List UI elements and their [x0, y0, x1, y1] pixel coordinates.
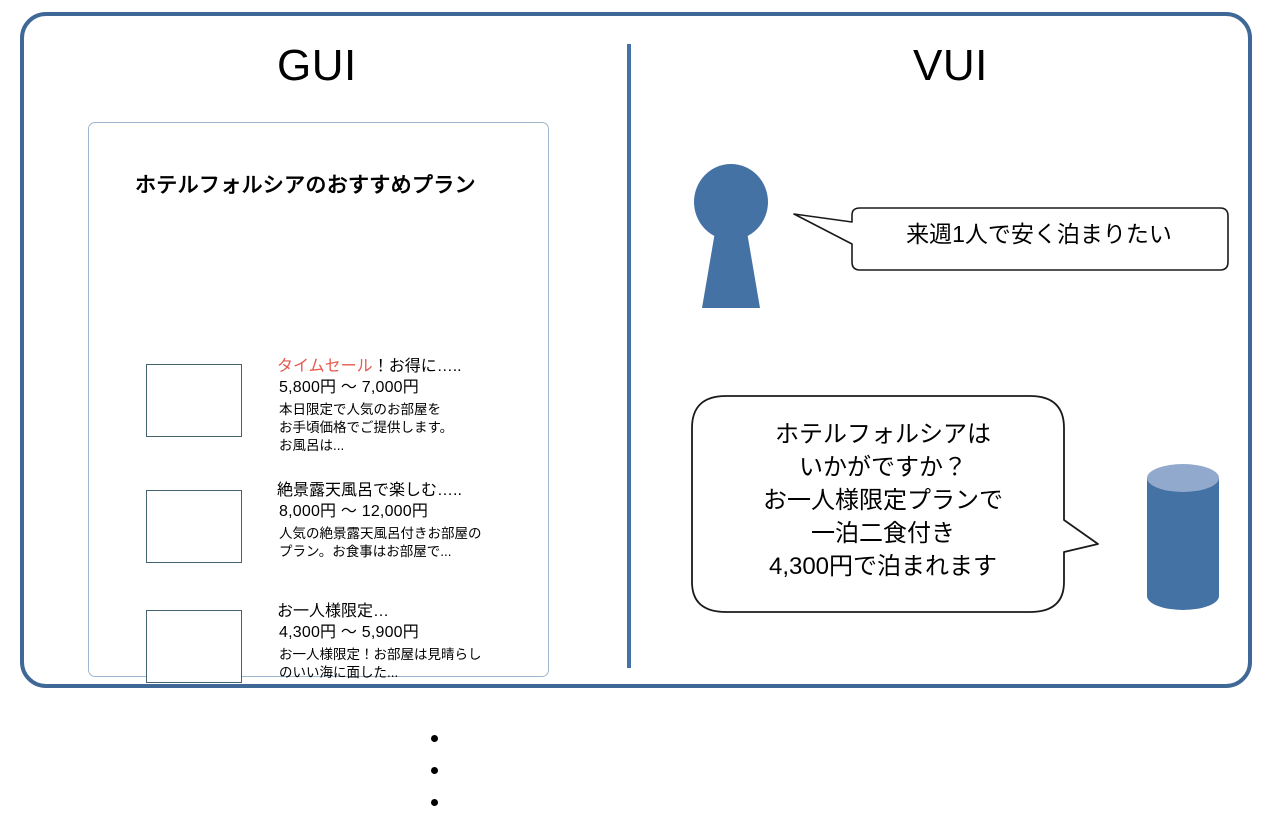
plan-title[interactable]: お一人様限定…	[277, 601, 537, 622]
ellipsis-dot	[431, 767, 438, 774]
plan-text-block: 絶景露天風呂で楽しむ….. 8,000円 〜 12,000円 人気の絶景露天風呂…	[277, 480, 537, 561]
column-divider	[627, 44, 631, 668]
plan-description-line: プラン。お食事はお部屋で...	[279, 543, 537, 561]
agent-utterance-text: ホテルフォルシアは いかがですか？ お一人様限定プランで 一泊二食付き 4,30…	[718, 418, 1048, 583]
plan-thumbnail-placeholder	[146, 610, 242, 683]
smart-speaker-cylinder-icon	[1145, 462, 1221, 612]
gui-card-title: ホテルフォルシアのおすすめプラン	[135, 169, 476, 199]
plan-thumbnail-placeholder	[146, 490, 242, 563]
agent-utterance-line: ホテルフォルシアは	[718, 418, 1048, 451]
gui-column-heading: GUI	[277, 44, 357, 88]
plan-description: お一人様限定！お部屋は見晴らし のいい海に面した...	[277, 644, 537, 682]
plan-title[interactable]: 絶景露天風呂で楽しむ…..	[277, 480, 537, 501]
plan-description: 人気の絶景露天風呂付きお部屋の プラン。お食事はお部屋で...	[277, 523, 537, 561]
plan-description-line: 人気の絶景露天風呂付きお部屋の	[279, 525, 537, 543]
agent-utterance-line: 一泊二食付き	[718, 517, 1048, 550]
vui-column-heading: VUI	[913, 44, 988, 88]
plan-list-ellipsis	[431, 735, 438, 831]
user-utterance-text: 来週1人で安く泊まりたい	[856, 220, 1222, 248]
plan-text-block: お一人様限定… 4,300円 〜 5,900円 お一人様限定！お部屋は見晴らし …	[277, 601, 537, 682]
plan-title-rest: お一人様限定…	[277, 603, 389, 620]
agent-utterance-line: お一人様限定プランで	[718, 484, 1048, 517]
plan-thumbnail-placeholder	[146, 364, 242, 437]
plan-description-line: 本日限定で人気のお部屋を	[279, 401, 537, 419]
agent-speech-bubble: ホテルフォルシアは いかがですか？ お一人様限定プランで 一泊二食付き 4,30…	[690, 392, 1100, 616]
plan-title-rest: ！お得に…..	[373, 358, 462, 375]
plan-description: 本日限定で人気のお部屋を お手頃価格でご提供します。 お風呂は...	[277, 399, 537, 455]
plan-sale-tag: タイムセール	[277, 358, 373, 375]
plan-title[interactable]: タイムセール！お得に…..	[277, 356, 537, 377]
person-silhouette-icon	[690, 162, 772, 310]
plan-description-line: のいい海に面した...	[279, 664, 537, 682]
plan-description-line: お一人様限定！お部屋は見晴らし	[279, 646, 537, 664]
plan-price-range: 5,800円 〜 7,000円	[277, 377, 537, 399]
plan-price-range: 8,000円 〜 12,000円	[277, 501, 537, 523]
agent-utterance-line: 4,300円で泊まれます	[718, 550, 1048, 583]
ellipsis-dot	[431, 799, 438, 806]
ellipsis-dot	[431, 735, 438, 742]
plan-text-block: タイムセール！お得に….. 5,800円 〜 7,000円 本日限定で人気のお部…	[277, 356, 537, 455]
user-speech-bubble: 来週1人で安く泊まりたい	[790, 200, 1230, 278]
plan-title-rest: 絶景露天風呂で楽しむ…..	[277, 482, 462, 499]
gui-plan-list-card: ホテルフォルシアのおすすめプラン タイムセール！お得に….. 5,800円 〜 …	[88, 122, 549, 677]
plan-price-range: 4,300円 〜 5,900円	[277, 622, 537, 644]
plan-description-line: お手頃価格でご提供します。	[279, 419, 537, 437]
agent-utterance-line: いかがですか？	[718, 451, 1048, 484]
plan-description-line: お風呂は...	[279, 437, 537, 455]
